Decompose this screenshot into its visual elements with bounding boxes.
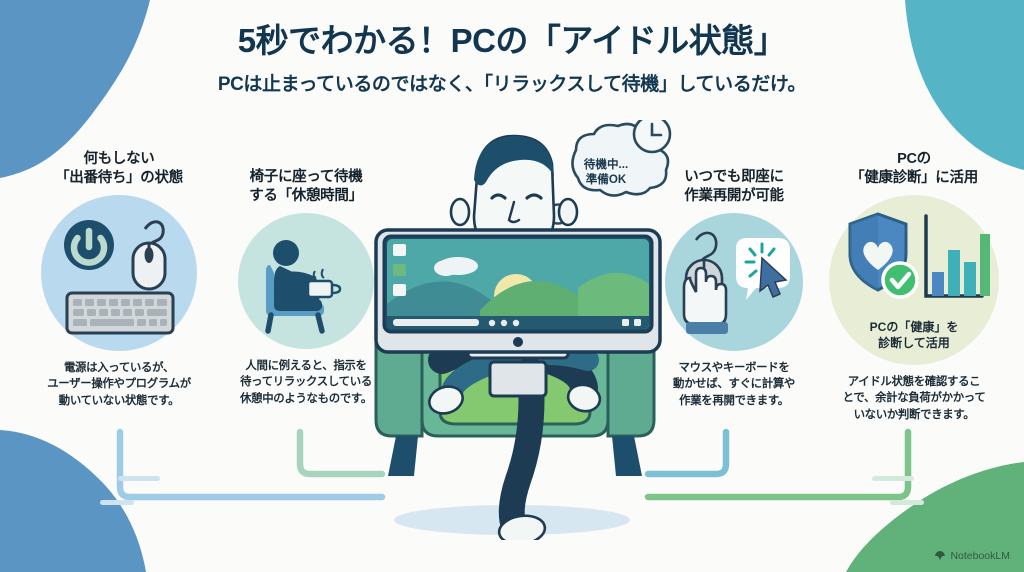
column-health-check[interactable]: PCの 「健康診断」に活用 [812,150,1016,423]
column-idle-waiting[interactable]: 何もしない 「出番待ち」の状態 [10,150,228,409]
bar-chart-icon [926,216,990,296]
health-diagnostic-icons [838,200,990,326]
keyboard-icon [67,293,173,333]
column-icon-circle: PCの「健康」を 診断して活用 [829,195,999,365]
column-icon-circle [238,213,374,349]
idle-device-icons [49,203,189,343]
speed-dash-right-1 [872,476,914,481]
column-icon-circle [41,195,197,351]
resting-person-icons [244,219,368,343]
column-icon-circle [665,213,803,351]
mouse-icon [133,222,165,289]
column-instant-resume[interactable]: いつでも即座に 作業再開が可能 [642,168,826,409]
speed-dash-right-2 [890,500,924,505]
power-button-icon [64,220,114,270]
speed-dash-left-2 [100,500,134,505]
column-heading: 何もしない 「出番待ち」の状態 [10,150,228,188]
check-badge-icon [883,263,917,297]
column-inner-label: PCの「健康」を 診断して活用 [829,320,999,351]
clock-icon [634,120,670,152]
page-subtitle: PCは止まっているのではなく、「リラックスして待機」しているだけ。 [0,69,1024,96]
monitor-wallpaper [387,239,649,329]
column-heading: 椅子に座って待機 する「休憩時間」 [215,168,397,206]
hand-on-mouse-icon [684,233,728,334]
column-caption: 電源は入っているが、 ユーザー操作やプログラムが 動いていない状態です。 [10,360,228,409]
page-title: 5秒でわかる！PCの「アイドル状態」 [0,22,1024,60]
column-caption: 人間に例えると、指示を 待ってリラックスしている 休憩中のようなものです。 [215,358,397,407]
infographic-canvas: 5秒でわかる！PCの「アイドル状態」 PCは止まっているのではなく、「リラックス… [0,0,1024,572]
speed-dash-left-1 [118,476,160,481]
watermark: NotebookLM [934,550,1010,562]
title-block: 5秒でわかる！PCの「アイドル状態」 PCは止まっているのではなく、「リラックス… [0,22,1024,96]
column-caption: アイドル状態を確認するこ とで、余計な負荷がかかって いないか判断できます。 [812,374,1016,423]
column-rest-time[interactable]: 椅子に座って待機 する「休憩時間」 [215,168,397,407]
column-heading: PCの 「健康診断」に活用 [812,150,1016,188]
coffee-cup-icon [308,269,340,297]
column-caption: マウスやキーボードを 動かせば、すぐに計算や 作業を再開できます。 [642,360,826,409]
notebooklm-icon [934,550,946,562]
watermark-label: NotebookLM [950,550,1010,562]
cursor-click-icon [736,238,790,300]
thought-bubble-text: 待機中... 準備OK [558,157,654,188]
resume-action-icons [670,218,798,346]
column-heading: いつでも即座に 作業再開が可能 [642,168,826,206]
